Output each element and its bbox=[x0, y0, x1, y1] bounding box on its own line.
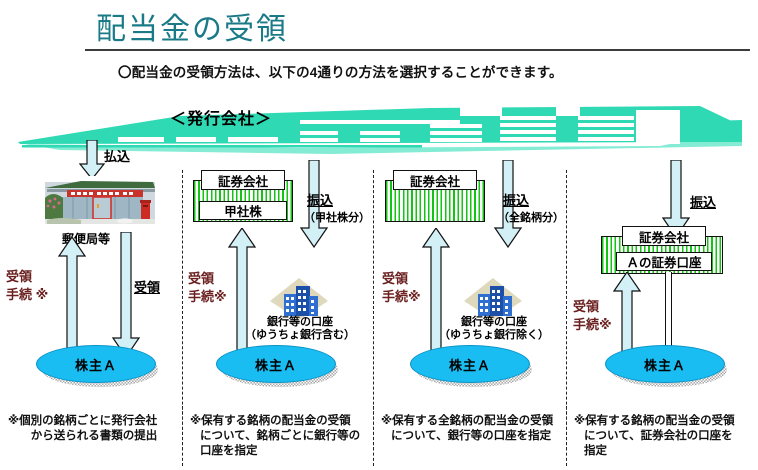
footnote-2-line-2: について、銘柄ごとに銀行等の bbox=[190, 429, 370, 444]
shareholder-label-2: 株主Ａ bbox=[216, 345, 336, 383]
label-receipt-procedure-3a: 受領 bbox=[382, 268, 408, 287]
label-receipt-procedure-1b: 手続 ※ bbox=[6, 284, 48, 303]
label-receipt-procedure-2a: 受領 bbox=[188, 268, 214, 287]
receipt-procedure-arrow-up-3 bbox=[422, 228, 450, 361]
footnote-2-line-1: ※保有する銘柄の配当金の受領 bbox=[190, 414, 370, 429]
note-divider-2 bbox=[373, 406, 374, 466]
footnote-4-line-3: 指定 bbox=[574, 444, 754, 459]
label-payment-1: 払込 bbox=[104, 146, 130, 165]
payment-arrow-down bbox=[79, 140, 105, 180]
post-office-photo bbox=[41, 176, 159, 229]
footnote-1-line-1: ※個別の銘柄ごとに発行会社 bbox=[8, 414, 180, 429]
shareholder-label-3: 株主Ａ bbox=[410, 345, 530, 383]
label-receipt-procedure-1a: 受領 bbox=[6, 266, 32, 285]
shareholder-node-1: 株主Ａ bbox=[36, 345, 158, 387]
securities-issue-box-2: 甲社株 bbox=[199, 201, 287, 220]
securities-company-name-4: 証券会社 bbox=[622, 226, 706, 246]
receipt-procedure-arrow-up-2 bbox=[228, 228, 256, 361]
label-transfer-3: 振込 bbox=[503, 190, 529, 209]
footnote-3-line-2: について、銀行等の口座を指定 bbox=[381, 429, 565, 444]
footnote-4: ※保有する銘柄の配当金の受領 について、証券会社の口座を 指定 bbox=[574, 414, 754, 459]
label-receipt-procedure-2b: 手続※ bbox=[188, 286, 227, 305]
securities-company-name-2: 証券会社 bbox=[201, 170, 285, 190]
title-divider bbox=[85, 49, 750, 51]
label-transfer-sub-3: （全銘柄分） bbox=[498, 209, 564, 225]
label-receipt-1: 受領 bbox=[134, 277, 160, 296]
slide-root: 配当金の受領 〇配当金の受領方法は、以下の4通りの方法を選択することができます。 bbox=[0, 0, 758, 470]
label-transfer-2: 振込 bbox=[307, 190, 333, 209]
footnote-3: ※保有する全銘柄の配当金の受領 について、銀行等の口座を指定 bbox=[381, 414, 565, 444]
shareholder-label-1: 株主Ａ bbox=[36, 345, 156, 383]
footnote-4-line-2: について、証券会社の口座を bbox=[574, 429, 754, 444]
label-receipt-procedure-4a: 受領 bbox=[573, 296, 599, 315]
shareholder-node-2: 株主Ａ bbox=[216, 345, 338, 387]
note-divider-1 bbox=[182, 406, 183, 466]
bank-account-caption-2a: 銀行等の口座 bbox=[240, 316, 360, 329]
shareholder-label-4: 株主Ａ bbox=[605, 345, 725, 383]
label-transfer-4: 振込 bbox=[690, 192, 716, 211]
footnote-4-line-1: ※保有する銘柄の配当金の受領 bbox=[574, 414, 754, 429]
securities-company-name-3: 証券会社 bbox=[393, 170, 477, 190]
securities-account-box-4: Ａの証券口座 bbox=[616, 252, 712, 271]
page-title: 配当金の受領 bbox=[96, 4, 288, 48]
subtitle-text: 〇配当金の受領方法は、以下の4通りの方法を選択することができます。 bbox=[118, 61, 563, 81]
shareholder-node-4: 株主Ａ bbox=[605, 345, 727, 387]
receipt-procedure-arrow-up-1 bbox=[58, 237, 86, 361]
label-receipt-procedure-4b: 手続※ bbox=[573, 314, 612, 333]
footnote-2-line-3: 口座を指定 bbox=[190, 444, 370, 459]
footnote-3-line-1: ※保有する全銘柄の配当金の受領 bbox=[381, 414, 565, 429]
footnote-2: ※保有する銘柄の配当金の受領 について、銘柄ごとに銀行等の 口座を指定 bbox=[190, 414, 370, 459]
label-transfer-sub-2: （甲社株分） bbox=[304, 209, 370, 225]
footnote-1-line-2: から送られる書類の提出 bbox=[8, 429, 180, 444]
bank-account-caption-3a: 銀行等の口座 bbox=[434, 316, 554, 329]
footnote-1: ※個別の銘柄ごとに発行会社 から送られる書類の提出 bbox=[8, 414, 180, 444]
shareholder-node-3: 株主Ａ bbox=[410, 345, 532, 387]
label-receipt-procedure-3b: 手続※ bbox=[382, 286, 421, 305]
issuer-banner-label: ＜発行会社＞ bbox=[170, 105, 272, 129]
note-divider-3 bbox=[566, 406, 567, 466]
